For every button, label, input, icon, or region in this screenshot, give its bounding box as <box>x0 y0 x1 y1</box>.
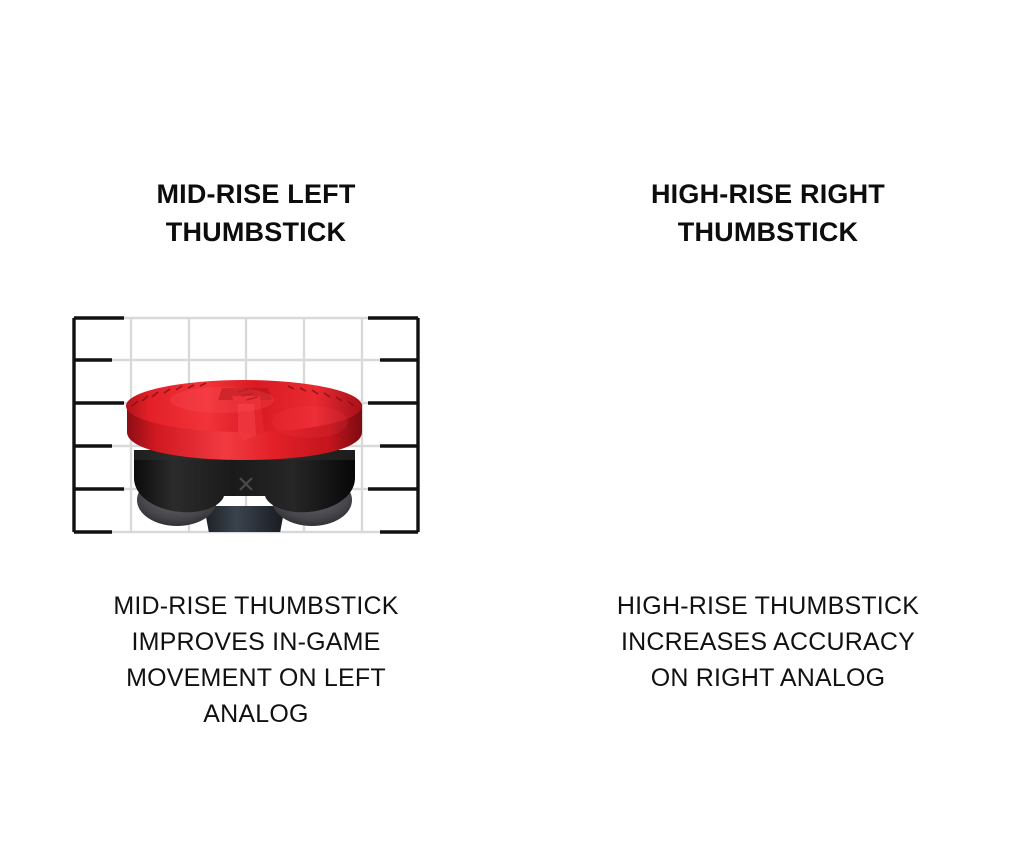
mid-rise-thumbstick-art <box>126 380 362 544</box>
caption-line: ON RIGHT ANALOG <box>558 660 978 696</box>
caption-line: INCREASES ACCURACY <box>558 624 978 660</box>
heading-line: HIGH-RISE RIGHT <box>553 175 983 213</box>
caption-line: MID-RISE THUMBSTICK <box>46 588 466 624</box>
heading-line: THUMBSTICK <box>41 213 471 251</box>
caption-line: HIGH-RISE THUMBSTICK <box>558 588 978 624</box>
panel-high-rise-right: HIGH-RISE RIGHT THUMBSTICK <box>512 0 1024 841</box>
caption-line: MOVEMENT ON LEFT <box>46 660 466 696</box>
comparison-infographic: MID-RISE LEFT THUMBSTICK <box>0 0 1024 841</box>
panel-heading-right: HIGH-RISE RIGHT THUMBSTICK <box>553 175 983 251</box>
panel-caption-right: HIGH-RISE THUMBSTICK INCREASES ACCURACY … <box>558 588 978 696</box>
caption-line: ANALOG <box>46 696 466 732</box>
panel-heading-left: MID-RISE LEFT THUMBSTICK <box>41 175 471 251</box>
heading-line: MID-RISE LEFT <box>41 175 471 213</box>
caption-line: IMPROVES IN-GAME <box>46 624 466 660</box>
cartesian-grid-diagram <box>72 300 420 550</box>
panel-caption-left: MID-RISE THUMBSTICK IMPROVES IN-GAME MOV… <box>46 588 466 732</box>
panel-mid-rise-left: MID-RISE LEFT THUMBSTICK <box>0 0 512 841</box>
heading-line: THUMBSTICK <box>553 213 983 251</box>
